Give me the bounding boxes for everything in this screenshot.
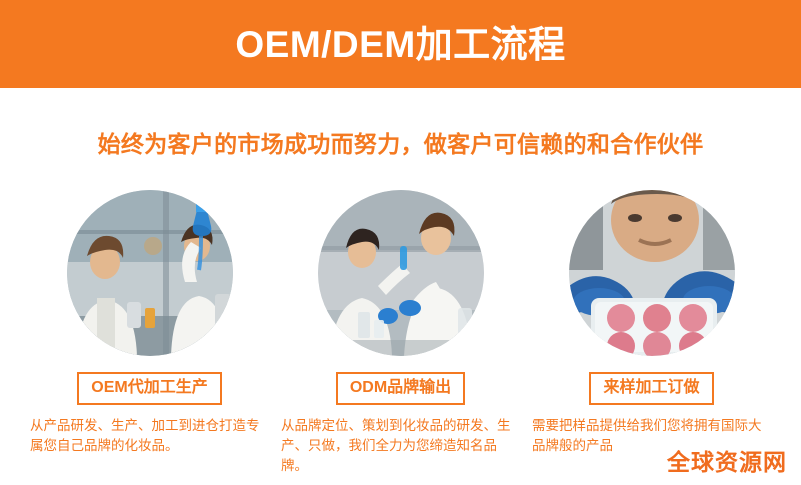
column-description-odm: 从品牌定位、策划到化妆品的研发、生产、只做，我们全力为您缔造知名品牌。 xyxy=(281,416,520,477)
promo-page: OEM/DEM加工流程 始终为客户的市场成功而努力，做客户可信赖的和合作伙伴 xyxy=(0,0,801,485)
header-banner: OEM/DEM加工流程 xyxy=(0,0,801,88)
column-description-oem: 从产品研发、生产、加工到进仓打造专属您自己品牌的化妆品。 xyxy=(30,416,269,457)
page-title: OEM/DEM加工流程 xyxy=(235,26,565,63)
two-scientists-testing-photo xyxy=(318,190,484,356)
process-columns: OEM代加工生产 从产品研发、生产、加工到进仓打造专属您自己品牌的化妆品。 xyxy=(0,190,801,476)
process-column-odm: ODM品牌输出 从品牌定位、策划到化妆品的研发、生产、只做，我们全力为您缔造知名… xyxy=(279,190,522,476)
process-column-oem: OEM代加工生产 从产品研发、生产、加工到进仓打造专属您自己品牌的化妆品。 xyxy=(28,190,271,476)
column-label-sample: 来样加工订做 xyxy=(589,372,713,405)
gloved-hands-petri-dish-photo xyxy=(569,190,735,356)
watermark-text: 全球资源网 xyxy=(667,443,787,477)
lab-researcher-pouring-photo xyxy=(67,190,233,356)
column-label-odm: ODM品牌输出 xyxy=(336,372,465,405)
subtitle-text: 始终为客户的市场成功而努力，做客户可信赖的和合作伙伴 xyxy=(0,125,801,159)
process-column-sample: 来样加工订做 需要把样品提供给我们您将拥有国际大品牌般的产品 xyxy=(530,190,773,476)
column-label-oem: OEM代加工生产 xyxy=(77,372,221,405)
